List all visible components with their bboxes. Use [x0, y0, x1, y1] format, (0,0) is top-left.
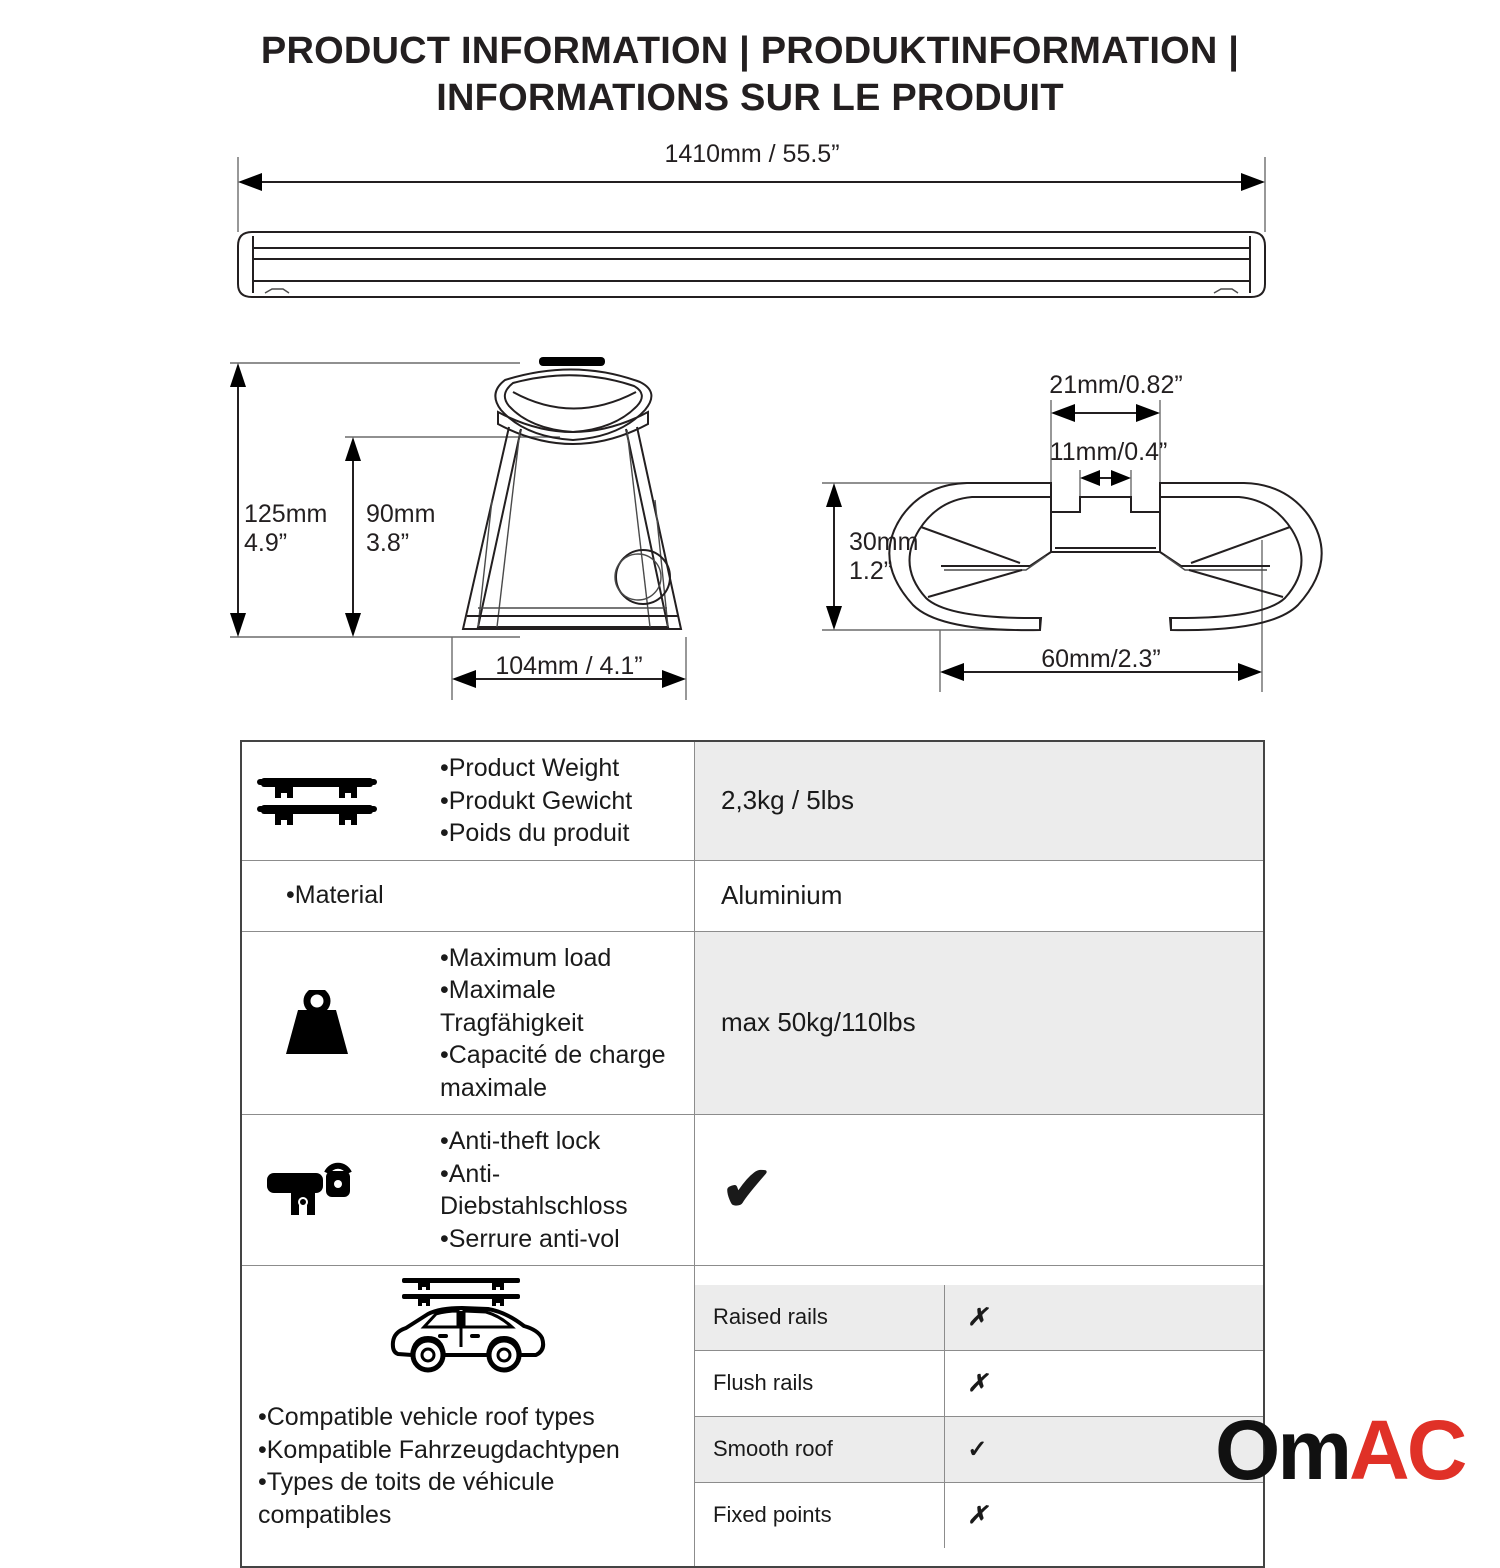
roof-type-row-smooth-roof: Smooth roof ✓ [695, 1416, 1263, 1482]
foot-inner-height-label: 90mm 3.8” [366, 500, 435, 558]
foot-total-height-label: 125mm 4.9” [244, 500, 327, 558]
maximum-load-labels: •Maximum load •Maximale Tragfähigkeit •C… [400, 932, 694, 1115]
anti-theft-lock-labels: •Anti-theft lock •Anti-Diebstahlschloss … [400, 1115, 694, 1265]
roof-type-row-fixed-points: Fixed points ✗ [695, 1482, 1263, 1548]
profile-outer-slot-label: 21mm/0.82” [1031, 371, 1201, 400]
roof-type-name: Raised rails [695, 1285, 945, 1351]
roof-types-subtable: Raised rails ✗ Flush rails ✗ Smooth roof… [695, 1285, 1263, 1548]
car-with-roofbars-icon-glyph [384, 1272, 552, 1376]
label-de: •Produkt Gewicht [440, 785, 632, 818]
roof-bars-icon [242, 772, 392, 830]
roof-type-name: Fixed points [695, 1482, 945, 1548]
foot-width-label: 104mm / 4.1” [449, 652, 689, 681]
product-information-sheet: PRODUCT INFORMATION | PRODUKTINFORMATION… [0, 0, 1500, 1500]
foot-front-view [463, 357, 681, 629]
profile-cross-section [889, 483, 1321, 630]
profile-inner-slot-label: 11mm/0.4” [1031, 438, 1186, 467]
anti-theft-lock-value: ✔ [695, 1153, 1263, 1227]
weight-icon-glyph [278, 990, 356, 1056]
material-label: •Material [242, 869, 694, 922]
table-row-product-weight: •Product Weight •Produkt Gewicht •Poids … [241, 741, 1264, 860]
roof-type-name: Smooth roof [695, 1416, 945, 1482]
label-fr: •Types de toits de véhicule compatibles [258, 1466, 680, 1531]
roof-bars-icon-glyph [257, 772, 377, 830]
bar-length-label: 1410mm / 55.5” [632, 140, 872, 169]
label-en: •Compatible vehicle roof types [258, 1401, 680, 1434]
roof-types-labels: •Compatible vehicle roof types •Kompatib… [242, 1391, 694, 1541]
profile-height-label: 30mm 1.2” [849, 528, 918, 586]
table-row-maximum-load: •Maximum load •Maximale Tragfähigkeit •C… [241, 931, 1264, 1115]
weight-icon [242, 990, 392, 1056]
table-row-anti-theft-lock: •Anti-theft lock •Anti-Diebstahlschloss … [241, 1115, 1264, 1266]
roof-type-mark: ✗ [945, 1285, 1263, 1351]
label-fr: •Capacité de charge maximale [440, 1039, 680, 1104]
specification-table: •Product Weight •Produkt Gewicht •Poids … [240, 740, 1265, 1568]
label-de: •Maximale Tragfähigkeit [440, 974, 680, 1039]
table-row-material: •Material Aluminium [241, 860, 1264, 931]
roof-bar-side-view [238, 232, 1265, 297]
maximum-load-value: max 50kg/110lbs [695, 997, 1263, 1048]
roof-type-row-flush-rails: Flush rails ✗ [695, 1350, 1263, 1416]
car-with-roofbars-icon [384, 1272, 552, 1381]
roof-type-row-raised-rails: Raised rails ✗ [695, 1285, 1263, 1351]
lock-icon [242, 1159, 392, 1221]
profile-width-label: 60mm/2.3” [941, 645, 1261, 674]
table-row-roof-types: •Compatible vehicle roof types •Kompatib… [241, 1266, 1264, 1568]
label-en: •Anti-theft lock [440, 1125, 680, 1158]
product-weight-value: 2,3kg / 5lbs [695, 775, 1263, 826]
label-fr: •Serrure anti-vol [440, 1223, 680, 1256]
label-fr: •Poids du produit [440, 817, 632, 850]
label-de: •Anti-Diebstahlschloss [440, 1158, 680, 1223]
logo-text-red: AC [1349, 1403, 1464, 1497]
lock-icon-glyph [265, 1159, 369, 1221]
omac-logo: OmAC [1215, 1408, 1464, 1492]
label-en: •Maximum load [440, 942, 680, 975]
label-de: •Kompatible Fahrzeugdachtypen [258, 1434, 680, 1467]
material-value: Aluminium [695, 870, 1263, 921]
roof-type-name: Flush rails [695, 1350, 945, 1416]
logo-text-black: Om [1215, 1403, 1349, 1497]
label-en: •Product Weight [440, 752, 632, 785]
product-weight-labels: •Product Weight •Produkt Gewicht •Poids … [400, 742, 646, 860]
